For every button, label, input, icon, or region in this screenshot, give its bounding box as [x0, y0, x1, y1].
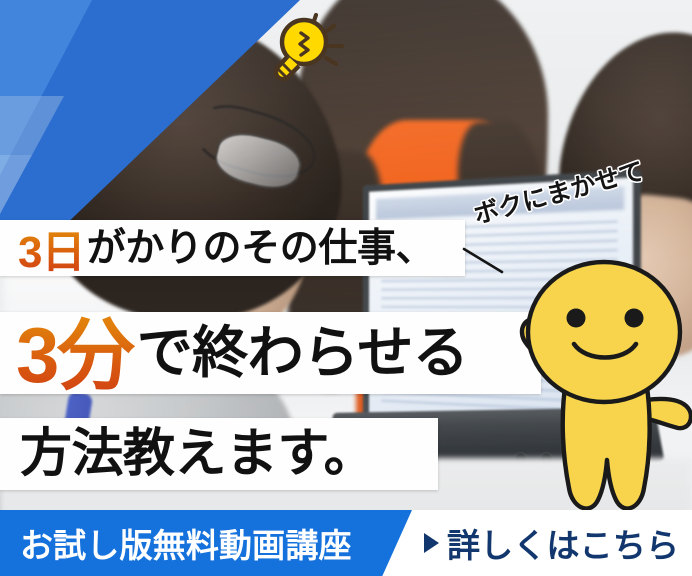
headline-line3-text: 方法教えます。 — [20, 428, 375, 480]
headline-band-3: 方法教えます。 — [0, 418, 438, 490]
headline-line2-accent: 3分 — [16, 293, 135, 405]
cta-bar: お試し版無料動画講座 詳しくはこちら — [0, 510, 692, 576]
cta-badge-label: お試し版無料動画講座 — [20, 519, 352, 567]
headline-line1-text: がかりのその仕事、 — [87, 229, 435, 268]
headline-line1-accent: 3日 — [18, 216, 87, 280]
promo-banner: 3日 がかりのその仕事、 3分 で終わらせる 方法教えます。 ボクにまかせて — [0, 0, 692, 576]
play-triangle-icon — [424, 533, 439, 553]
smiley-mascot-icon — [496, 232, 692, 522]
headline-line2-text: で終わらせる — [137, 325, 469, 381]
headline-band-2: 3分 で終わらせる — [0, 312, 541, 394]
cta-details-link[interactable]: 詳しくはこちら — [424, 510, 692, 576]
headline-band-1: 3日 がかりのその仕事、 — [0, 220, 465, 276]
cta-badge[interactable]: お試し版無料動画講座 — [0, 510, 412, 576]
lightbulb-icon — [258, 6, 350, 82]
cta-link-label: 詳しくはこちら — [447, 519, 679, 567]
